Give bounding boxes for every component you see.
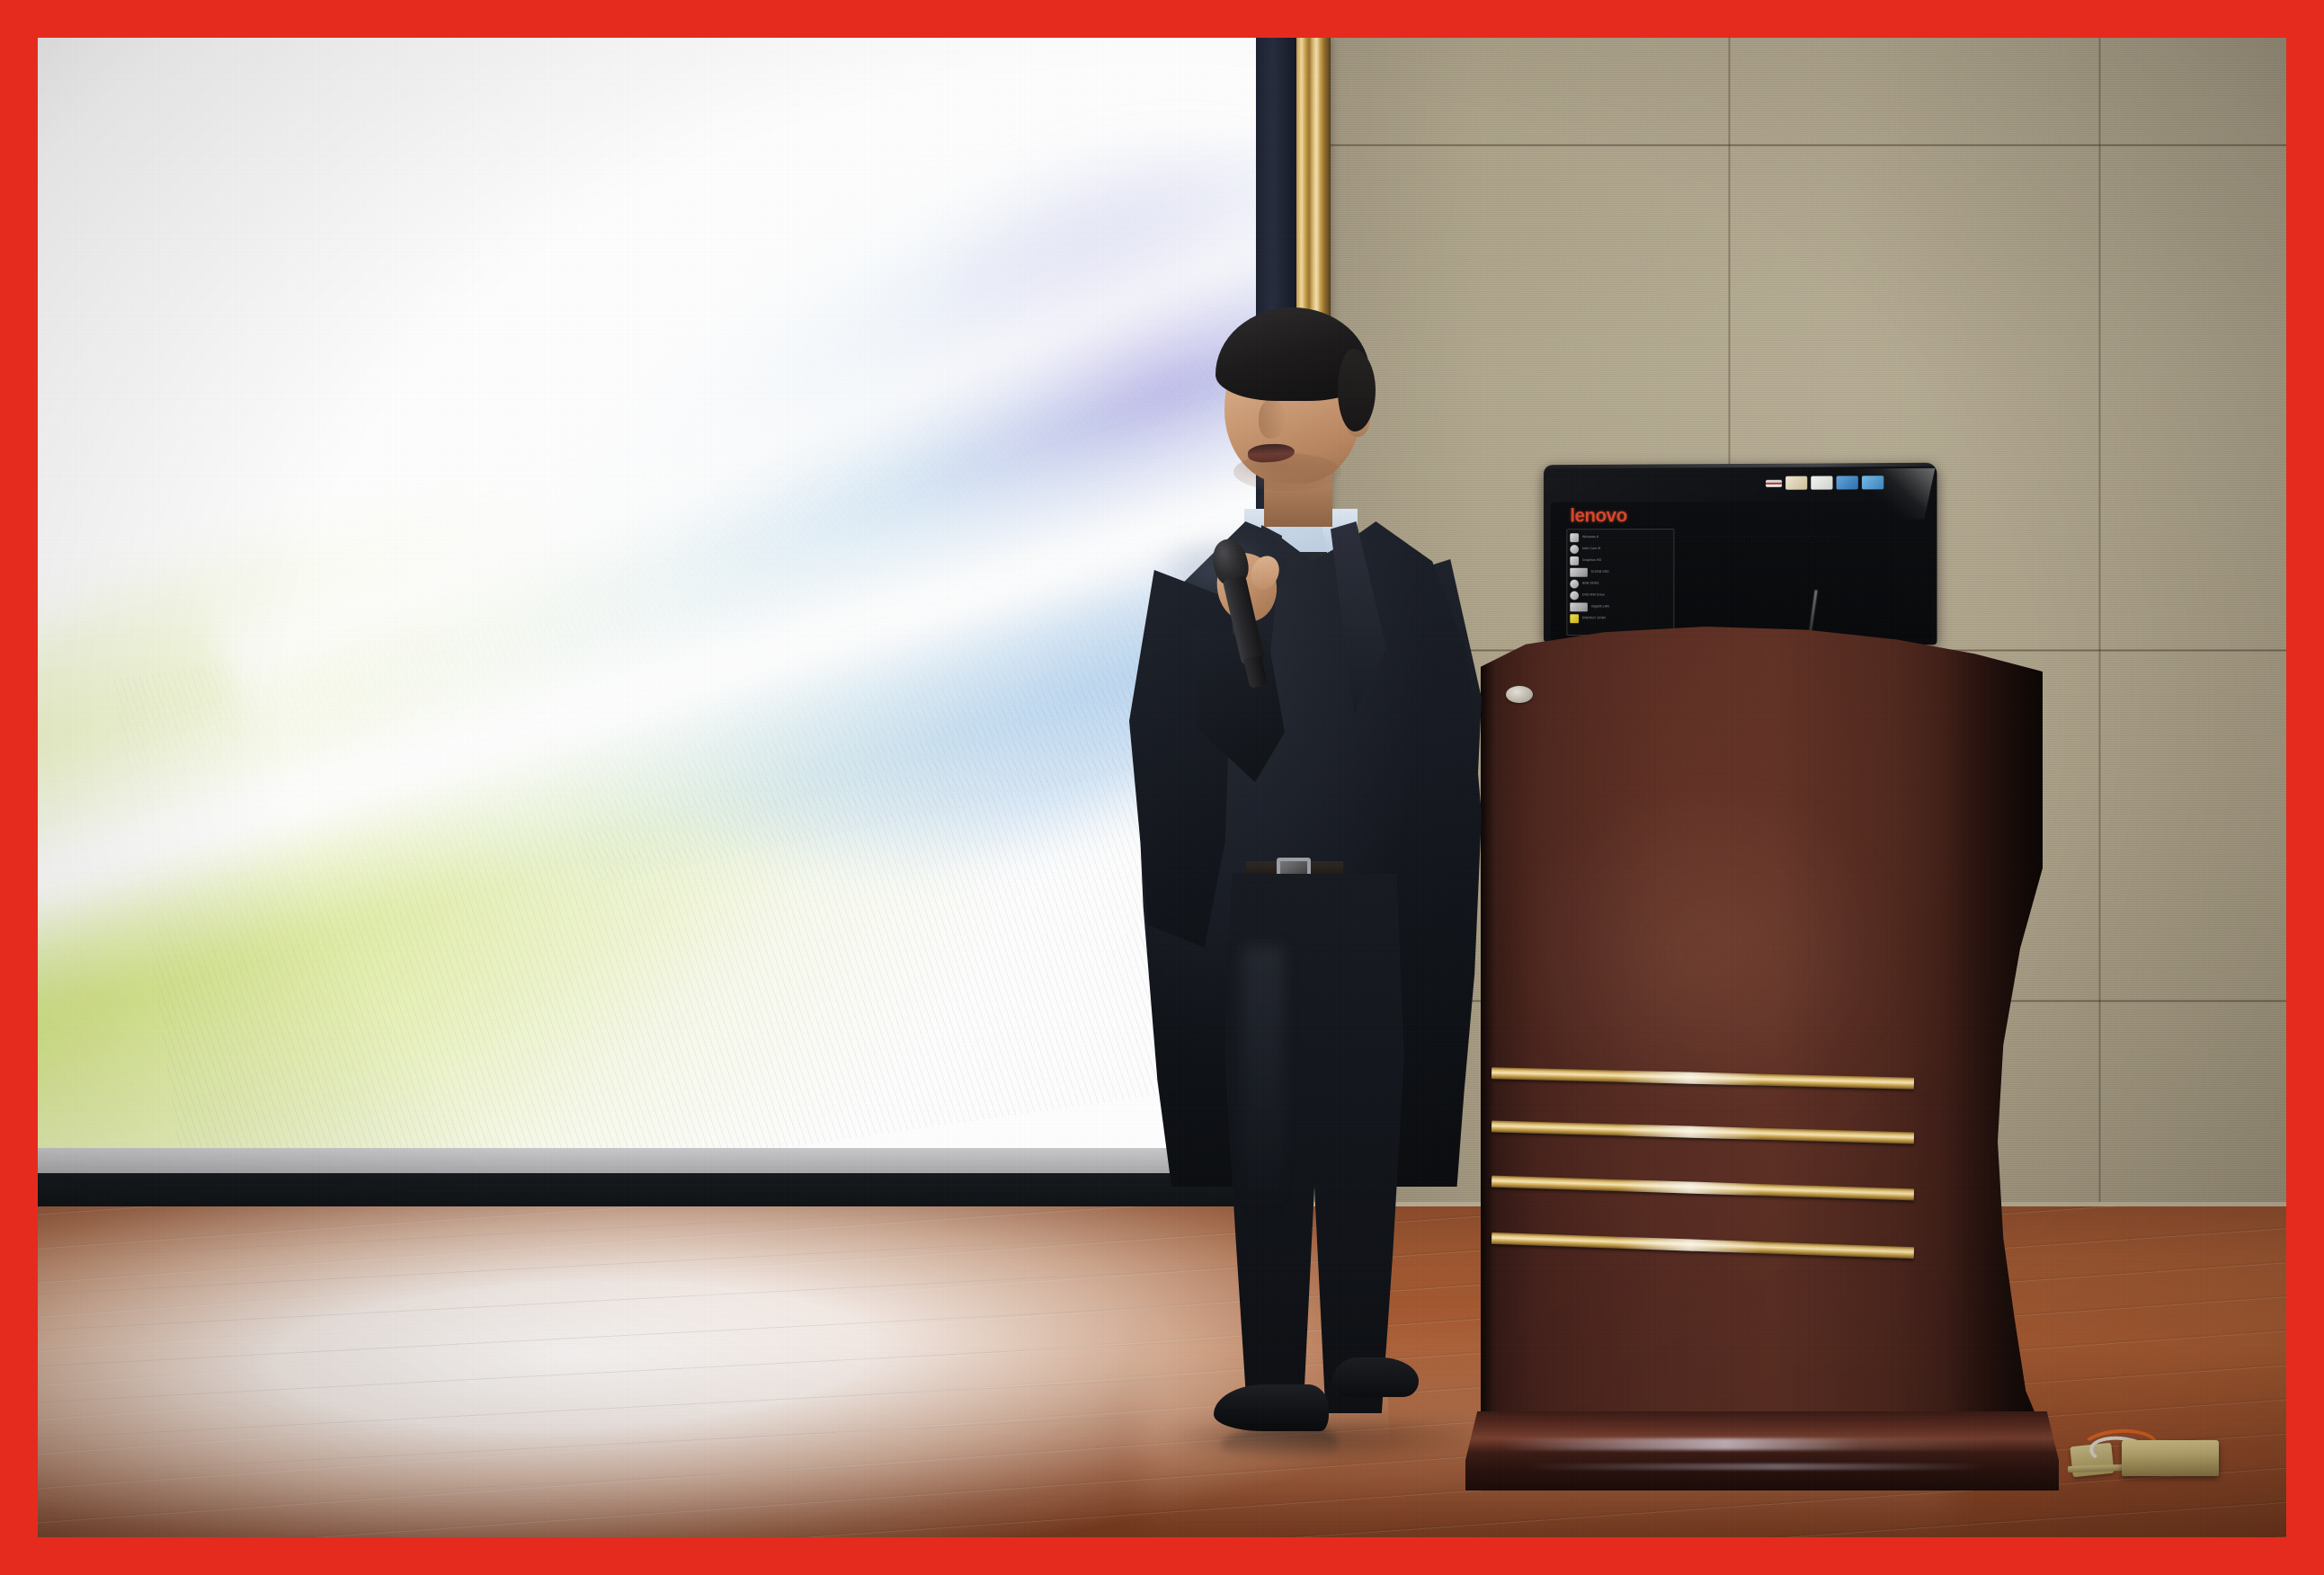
sticker-row: Graphics HD (1570, 555, 1670, 566)
blue-badge (1837, 476, 1858, 489)
lenovo-monitor[interactable]: lenovo · · · · · · · · · · · · · · · · ·… (1544, 463, 1937, 645)
screen-gray-strip (38, 1148, 1289, 1173)
sticker-row: Windows 8 (1570, 531, 1670, 543)
dvd-icon (1570, 591, 1579, 600)
sticker-row: Intel Core i5 (1570, 543, 1670, 555)
projected-slide (38, 38, 1289, 1148)
sticker-row: 8GB DDR3 (1570, 578, 1670, 590)
sticker-label: 512GB SSD (1591, 570, 1671, 574)
disc-icon (1570, 545, 1579, 554)
red-white-badge (1766, 479, 1782, 486)
sticker-label: Windows 8 (1582, 535, 1670, 539)
sticker-label: ENERGY STAR (1582, 616, 1670, 620)
sticker-label: DVD-RW Drive (1582, 593, 1670, 598)
sticker-row: ENERGY STAR (1570, 612, 1670, 624)
lectern-body[interactable] (1481, 627, 2043, 1431)
screen-highlight (38, 38, 1289, 1148)
sticker-row: Gigabit LAN (1570, 601, 1670, 612)
sticker-label: Gigabit LAN (1591, 605, 1671, 610)
blue-badge-2 (1862, 476, 1883, 489)
white-badge (1811, 476, 1832, 489)
copy-icon (1570, 533, 1579, 542)
microphone-tip (1243, 655, 1268, 690)
sticker-label: Intel Core i5 (1582, 547, 1670, 551)
wall-seam-horizontal (1305, 144, 2286, 147)
lectern-base (1465, 1411, 2059, 1490)
lenovo-logo: lenovo (1570, 505, 1626, 527)
lectern-sheen (1517, 788, 1894, 1112)
cloud-icon (1570, 556, 1579, 565)
shoe-reflection (1221, 1428, 1338, 1458)
shoe-left (1214, 1384, 1329, 1431)
speaker (1108, 316, 1485, 1458)
brass-strip (1491, 1232, 1914, 1259)
brass-strip (1491, 1176, 1914, 1201)
lectern-base-highlight-2 (1525, 1464, 1988, 1470)
sticker-label: 8GB DDR3 (1582, 582, 1670, 586)
energy-star-icon (1570, 614, 1579, 623)
sticker-row: DVD-RW Drive (1570, 590, 1670, 601)
brass-strip (1491, 1120, 1914, 1143)
wall-seam-vertical (2098, 38, 2101, 1202)
sticker-label: Graphics HD (1582, 558, 1670, 563)
photograph: lenovo · · · · · · · · · · · · · · · · ·… (38, 38, 2286, 1537)
floor-socket-cover[interactable] (2122, 1440, 2219, 1476)
memory-icon (1570, 579, 1579, 588)
monitor-badge-row (1766, 476, 1883, 490)
storage-icon (1570, 567, 1588, 576)
shoe-right (1332, 1357, 1419, 1397)
network-icon (1570, 602, 1588, 611)
lectern-base-highlight (1501, 1438, 1999, 1450)
photo-red-frame: lenovo · · · · · · · · · · · · · · · · ·… (0, 0, 2324, 1575)
lectern-name-plate-dot (1506, 686, 1533, 703)
trouser-highlight (1242, 946, 1284, 1215)
monitor-spec-dots: · · · · · · · · · · · · · · · · · · · · … (1683, 534, 1900, 538)
sticker-row: 512GB SSD (1570, 566, 1670, 578)
cream-badge (1785, 476, 1807, 490)
monitor-spec-sticker: Windows 8 Intel Core i5 Graphics HD 512G… (1566, 529, 1674, 636)
